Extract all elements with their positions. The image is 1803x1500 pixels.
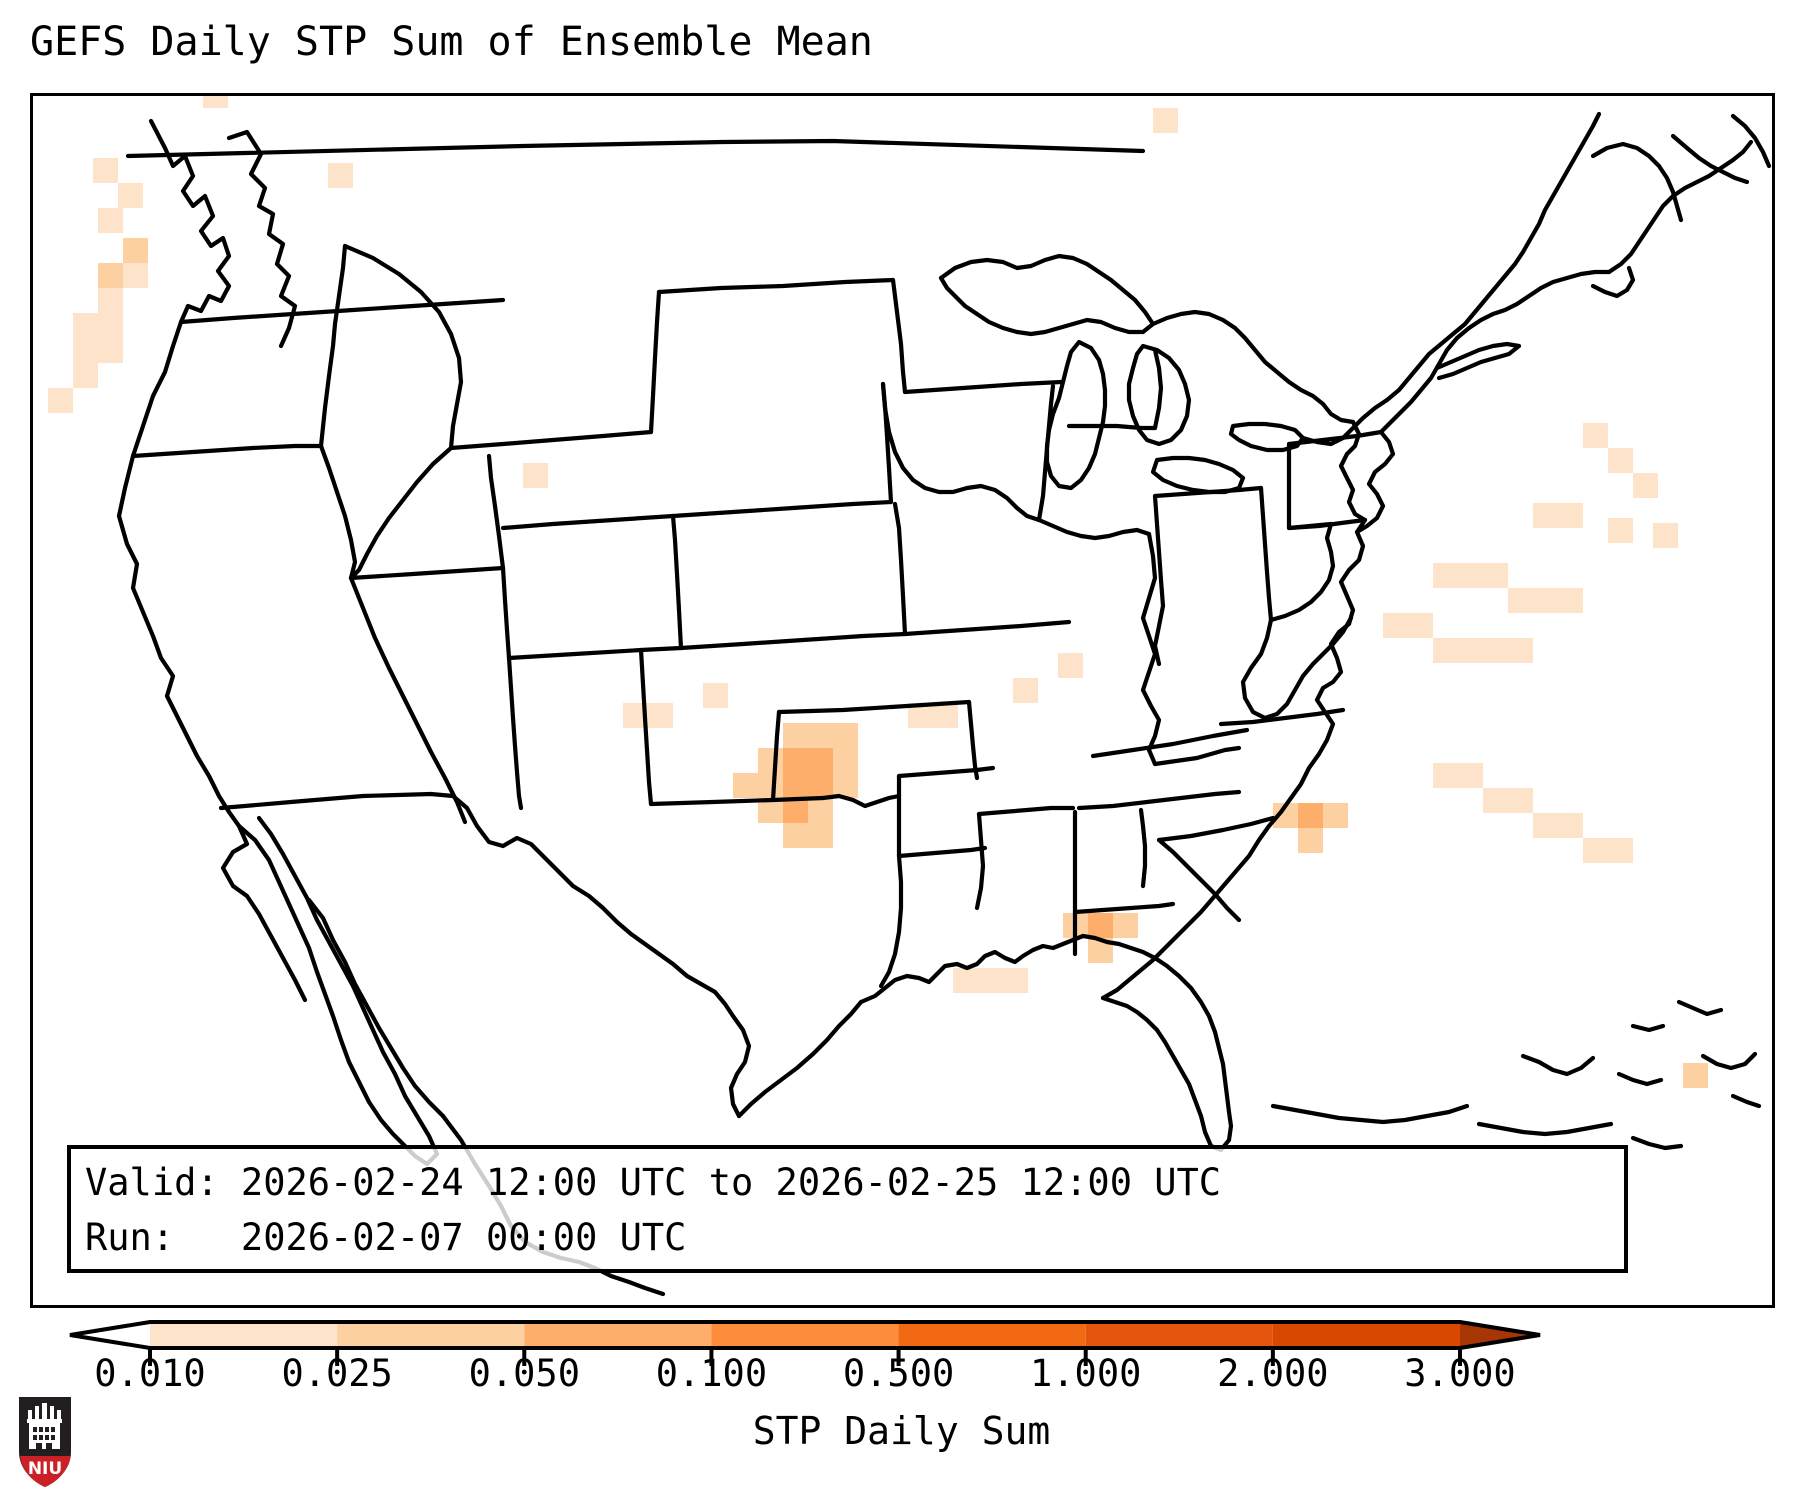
run-time-line: Run: 2026-02-07 00:00 UTC [85, 1210, 1624, 1265]
colorbar[interactable]: 0.0100.0250.0500.1000.5001.0002.0003.000… [0, 1310, 1803, 1500]
page-title: GEFS Daily STP Sum of Ensemble Mean [30, 18, 873, 66]
colorbar-tick-label: 0.050 [469, 1354, 580, 1394]
map-panel[interactable] [30, 93, 1775, 1308]
colorbar-tick-label: 0.500 [843, 1354, 954, 1394]
colorbar-tick-label: 2.000 [1217, 1354, 1328, 1394]
colorbar-axis-label: STP Daily Sum [753, 1410, 1050, 1452]
colorbar-tick-label: 0.010 [94, 1354, 205, 1394]
colorbar-band [1086, 1322, 1273, 1348]
colorbar-tick-label: 3.000 [1404, 1354, 1515, 1394]
logo-wordmark: NIU [28, 1459, 62, 1479]
colorbar-band [1273, 1322, 1460, 1348]
info-box: Valid: 2026-02-24 12:00 UTC to 2026-02-2… [67, 1145, 1628, 1273]
colorbar-band [524, 1322, 711, 1348]
colorbar-band [337, 1322, 524, 1348]
colorbar-band [711, 1322, 898, 1348]
colorbar-band [899, 1322, 1086, 1348]
niu-logo: NIU [14, 1392, 76, 1492]
colorbar-tick-label: 1.000 [1030, 1354, 1141, 1394]
basemap-svg [33, 96, 1772, 1305]
colorbar-tick-label: 0.025 [281, 1354, 392, 1394]
coastlines-and-borders [119, 114, 1769, 1294]
figure-root: GEFS Daily STP Sum of Ensemble Mean [0, 0, 1803, 1500]
colorbar-band [150, 1322, 337, 1348]
valid-time-line: Valid: 2026-02-24 12:00 UTC to 2026-02-2… [85, 1155, 1624, 1210]
colorbar-tick-label: 0.100 [656, 1354, 767, 1394]
